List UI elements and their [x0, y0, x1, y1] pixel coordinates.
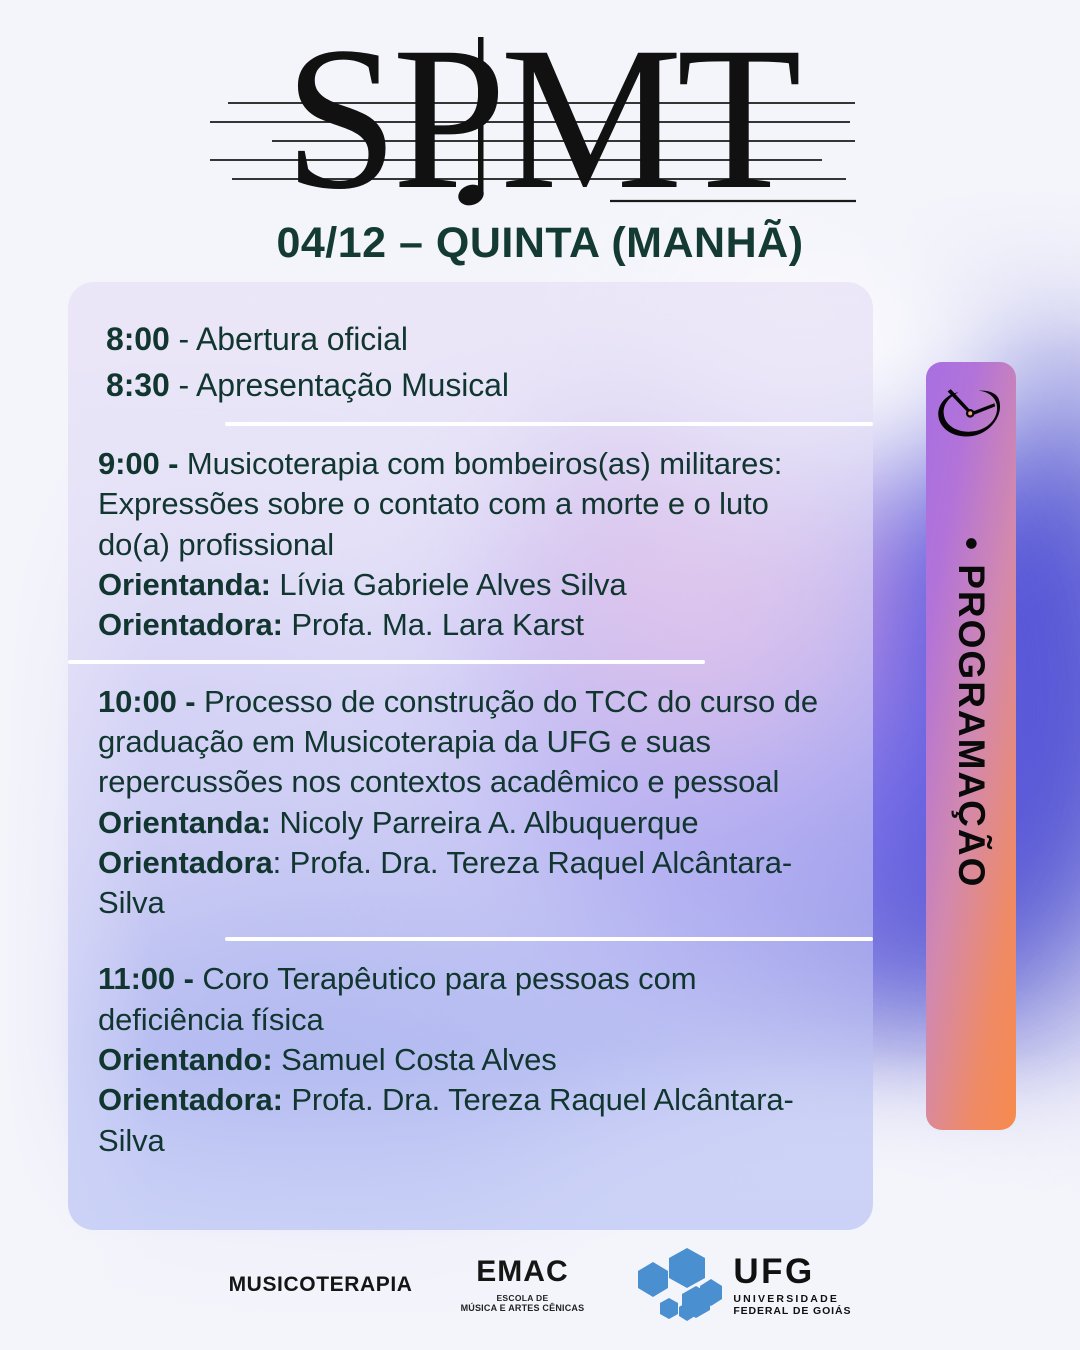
role-name: Nicoly Parreira A. Albuquerque [271, 805, 699, 840]
footer-logos: MUSICOTERAPIA EMAC ESCOLA DE MÚSICA E AR… [0, 1242, 1080, 1328]
session-title: Processo de construção do TCC do curso d… [98, 684, 818, 800]
session-heading: 11:00 - Coro Terapêutico para pessoas co… [98, 959, 843, 1040]
session-sep: - [160, 446, 187, 481]
role-label: Orientando: [98, 1042, 273, 1077]
spmt-logo: SPMT [0, 14, 1080, 219]
schedule-opening-block: 8:00 - Abertura oficial 8:30 - Apresenta… [98, 316, 843, 408]
emac-subtitle-2: MÚSICA E ARTES CÊNICAS [461, 1304, 585, 1313]
svg-text:SPMT: SPMT [284, 17, 798, 217]
session-time: 9:00 [98, 446, 160, 481]
session-role: Orientadora: Profa. Dra. Tereza Raquel A… [98, 843, 843, 924]
session-time: 11:00 [98, 961, 175, 996]
page-title: 04/12 – QUINTA (MANHÃ) [0, 219, 1080, 268]
session-role: Orientando: Samuel Costa Alves [98, 1040, 843, 1080]
sidebar-label: • PROGRAMAÇÃO [950, 537, 992, 888]
emac-wordmark: EMAC [461, 1257, 585, 1287]
session-title: Musicoterapia com bombeiros(as) militare… [98, 446, 782, 562]
section-divider [225, 422, 873, 426]
logo-emac: EMAC ESCOLA DE MÚSICA E ARTES CÊNICAS [461, 1257, 585, 1314]
ufg-hexagon-icon [632, 1246, 724, 1324]
role-name: Lívia Gabriele Alves Silva [271, 567, 627, 602]
session-heading: 9:00 - Musicoterapia com bombeiros(as) m… [98, 444, 843, 565]
role-name: Profa. Ma. Lara Karst [283, 607, 584, 642]
logo-musicoterapia: MUSICOTERAPIA [229, 1273, 413, 1297]
opening-title: Abertura oficial [196, 321, 408, 357]
role-label: Orientadora: [98, 607, 283, 642]
session-time: 10:00 [98, 684, 177, 719]
session-sep: - [177, 684, 204, 719]
role-label: Orientadora [98, 845, 273, 880]
schedule-opening-item: 8:30 - Apresentação Musical [98, 362, 843, 408]
role-label: Orientanda: [98, 805, 271, 840]
session-role: Orientadora: Profa. Ma. Lara Karst [98, 605, 843, 645]
opening-time: 8:30 [106, 367, 170, 403]
emac-subtitle-1: ESCOLA DE [461, 1294, 585, 1303]
schedule-session: 10:00 - Processo de construção do TCC do… [98, 682, 843, 924]
programacao-sidebar: • PROGRAMAÇÃO [926, 362, 1016, 1130]
session-heading: 10:00 - Processo de construção do TCC do… [98, 682, 843, 803]
schedule-session: 11:00 - Coro Terapêutico para pessoas co… [98, 959, 843, 1160]
session-sep: - [175, 961, 202, 996]
section-divider [225, 937, 873, 941]
session-role: Orientanda: Lívia Gabriele Alves Silva [98, 565, 843, 605]
schedule-session: 9:00 - Musicoterapia com bombeiros(as) m… [98, 444, 843, 645]
ufg-subtitle-2: FEDERAL DE GOIÁS [733, 1306, 851, 1317]
ufg-wordmark: UFG [733, 1254, 851, 1289]
logo-ufg: UFG UNIVERSIDADE FEDERAL DE GOIÁS [632, 1246, 851, 1324]
opening-sep: - [170, 367, 196, 403]
schedule-opening-item: 8:00 - Abertura oficial [98, 316, 843, 362]
ufg-subtitle-1: UNIVERSIDADE [733, 1294, 851, 1305]
role-label: Orientanda: [98, 567, 271, 602]
session-role: Orientadora: Profa. Dra. Tereza Raquel A… [98, 1080, 843, 1161]
schedule-card: 8:00 - Abertura oficial 8:30 - Apresenta… [68, 282, 873, 1230]
role-name: Samuel Costa Alves [273, 1042, 557, 1077]
role-label: Orientadora: [98, 1082, 283, 1117]
spmt-logo-icon: SPMT [210, 17, 870, 217]
clock-icon [932, 372, 1010, 450]
session-role: Orientanda: Nicoly Parreira A. Albuquerq… [98, 803, 843, 843]
opening-sep: - [170, 321, 196, 357]
ufg-text: UFG UNIVERSIDADE FEDERAL DE GOIÁS [733, 1254, 851, 1317]
sidebar-label-wrap: • PROGRAMAÇÃO [926, 537, 1016, 1097]
section-divider [68, 660, 705, 664]
opening-title: Apresentação Musical [196, 367, 509, 403]
opening-time: 8:00 [106, 321, 170, 357]
